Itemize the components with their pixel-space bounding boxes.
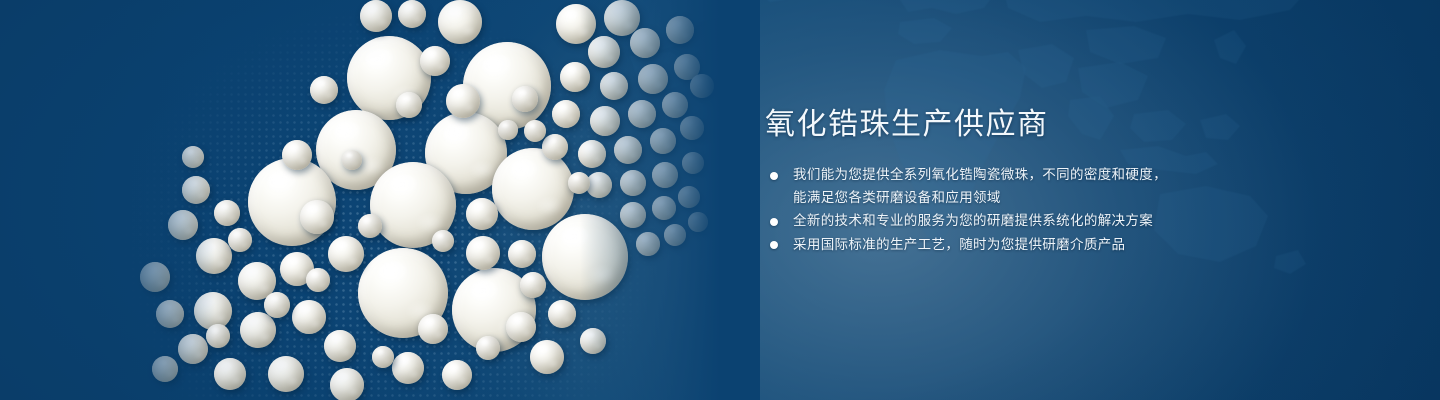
bullet-dot-icon xyxy=(770,241,778,249)
bullet-dot-icon xyxy=(770,172,778,180)
list-item-line-1: 我们能为您提供全系列氧化锆陶瓷微珠，不同的密度和硬度， xyxy=(793,167,1167,182)
list-item: 全新的技术和专业的服务为您的研磨提供系统化的解决方案 xyxy=(765,210,1285,233)
bullet-dot-icon xyxy=(770,218,778,226)
list-item-line-1: 全新的技术和专业的服务为您的研磨提供系统化的解决方案 xyxy=(793,213,1153,228)
hero-banner: 氧化锆珠生产供应商 我们能为您提供全系列氧化锆陶瓷微珠，不同的密度和硬度， 能满… xyxy=(0,0,1440,400)
list-item: 我们能为您提供全系列氧化锆陶瓷微珠，不同的密度和硬度， 能满足您各类研磨设备和应… xyxy=(765,164,1285,209)
feature-list: 我们能为您提供全系列氧化锆陶瓷微珠，不同的密度和硬度， 能满足您各类研磨设备和应… xyxy=(765,164,1285,256)
page-title: 氧化锆珠生产供应商 xyxy=(765,106,1285,144)
banner-copy: 氧化锆珠生产供应商 我们能为您提供全系列氧化锆陶瓷微珠，不同的密度和硬度， 能满… xyxy=(765,106,1285,257)
list-item: 采用国际标准的生产工艺，随时为您提供研磨介质产品 xyxy=(765,234,1285,257)
list-item-line-2: 能满足您各类研磨设备和应用领域 xyxy=(793,187,1285,210)
list-item-line-1: 采用国际标准的生产工艺，随时为您提供研磨介质产品 xyxy=(793,237,1125,252)
